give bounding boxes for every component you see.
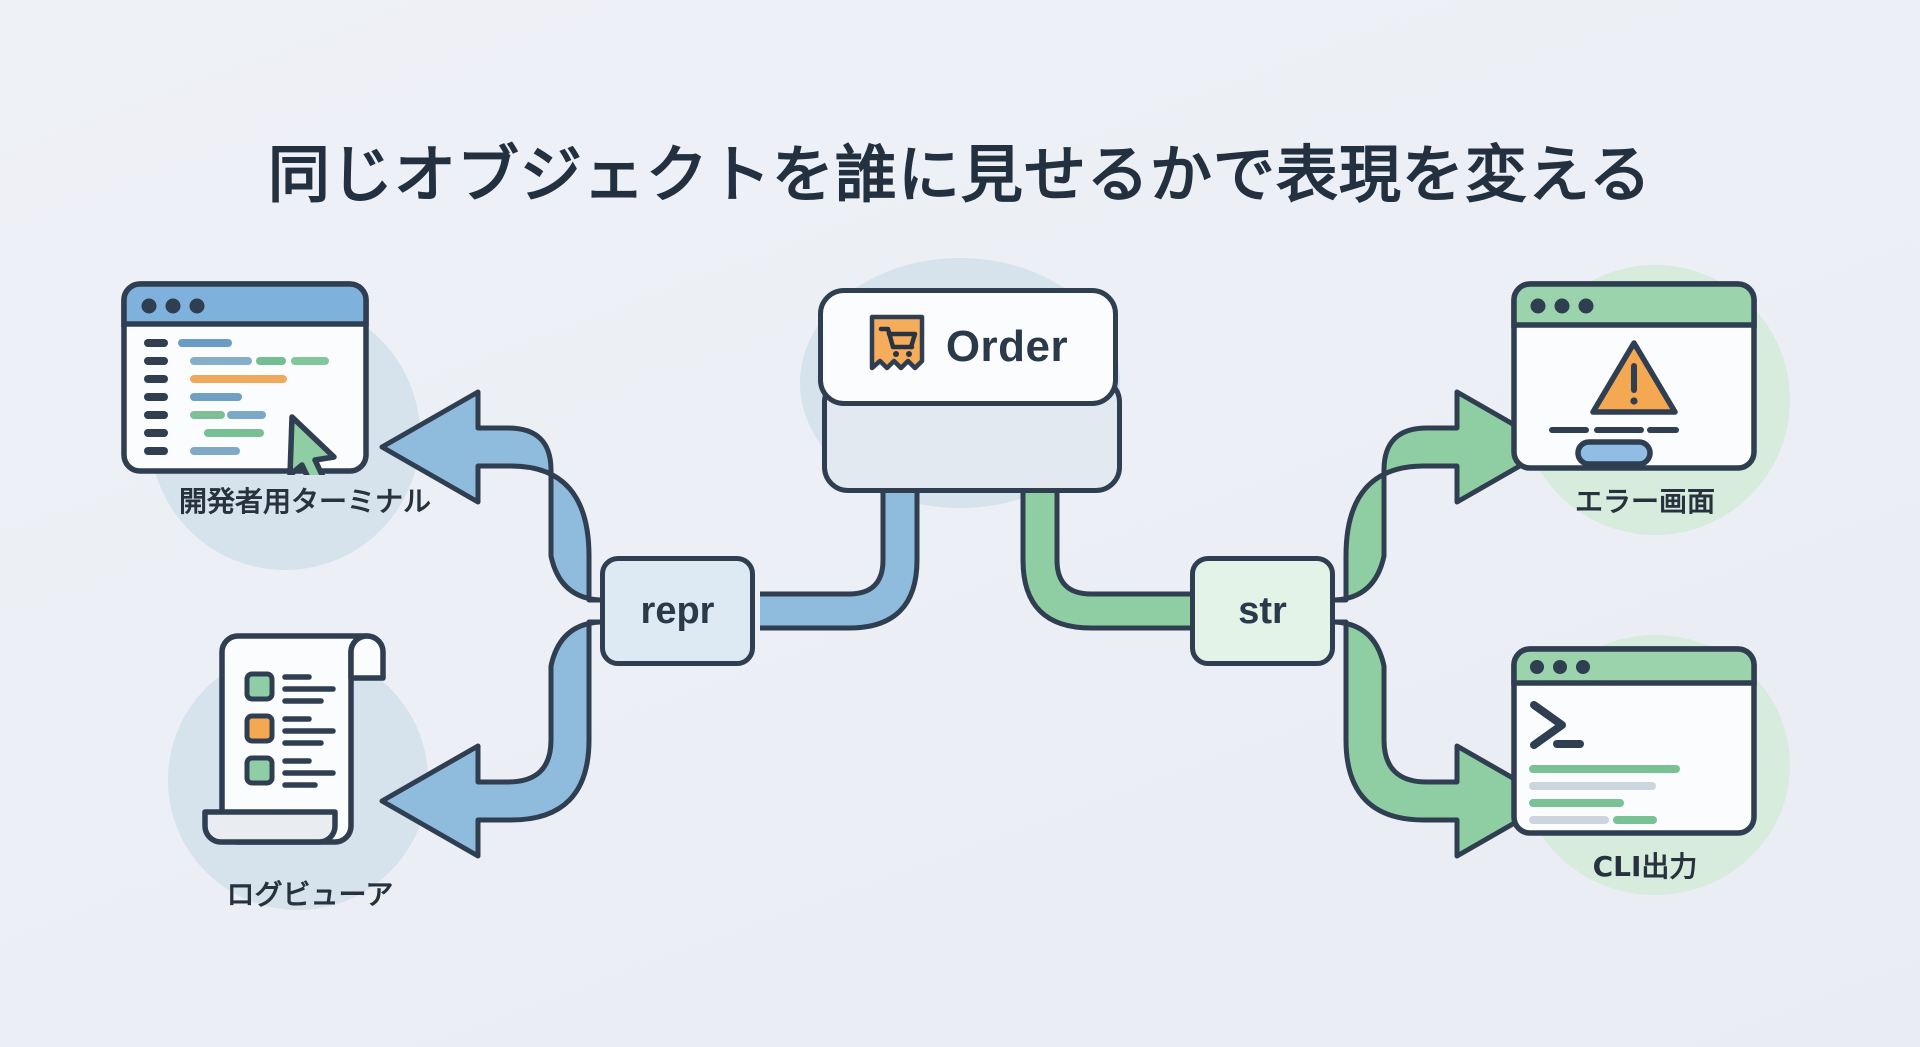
diagram-canvas: 同じオブジェクトを誰に見せるかで表現を変える bbox=[0, 0, 1920, 1047]
terminal-window-icon bbox=[120, 280, 490, 480]
endpoint-log-viewer-label: ログビューア bbox=[145, 873, 475, 913]
endpoint-terminal-label: 開発者用ターミナル bbox=[120, 480, 490, 520]
order-node[interactable]: Order bbox=[818, 288, 1126, 493]
order-label: Order bbox=[946, 322, 1068, 372]
endpoint-terminal[interactable]: 開発者用ターミナル bbox=[120, 280, 490, 480]
edge-label-repr-text: repr bbox=[641, 590, 715, 633]
endpoint-error-screen-label: エラー画面 bbox=[1500, 480, 1790, 520]
endpoint-cli-output-label: CLI出力 bbox=[1500, 845, 1790, 885]
edge-label-str-text: str bbox=[1238, 590, 1287, 633]
endpoint-cli-output[interactable]: CLI出力 bbox=[1500, 645, 1790, 842]
order-card[interactable]: Order bbox=[818, 288, 1118, 406]
cli-terminal-icon bbox=[1510, 645, 1790, 842]
endpoint-log-viewer[interactable]: ログビューア bbox=[145, 630, 475, 865]
endpoint-error-screen[interactable]: エラー画面 bbox=[1500, 280, 1790, 477]
edge-label-repr[interactable]: repr bbox=[600, 556, 755, 666]
receipt-cart-icon bbox=[868, 314, 926, 381]
edge-label-str[interactable]: str bbox=[1190, 556, 1335, 666]
scroll-document-icon bbox=[197, 630, 475, 865]
error-dialog-icon bbox=[1510, 280, 1790, 477]
